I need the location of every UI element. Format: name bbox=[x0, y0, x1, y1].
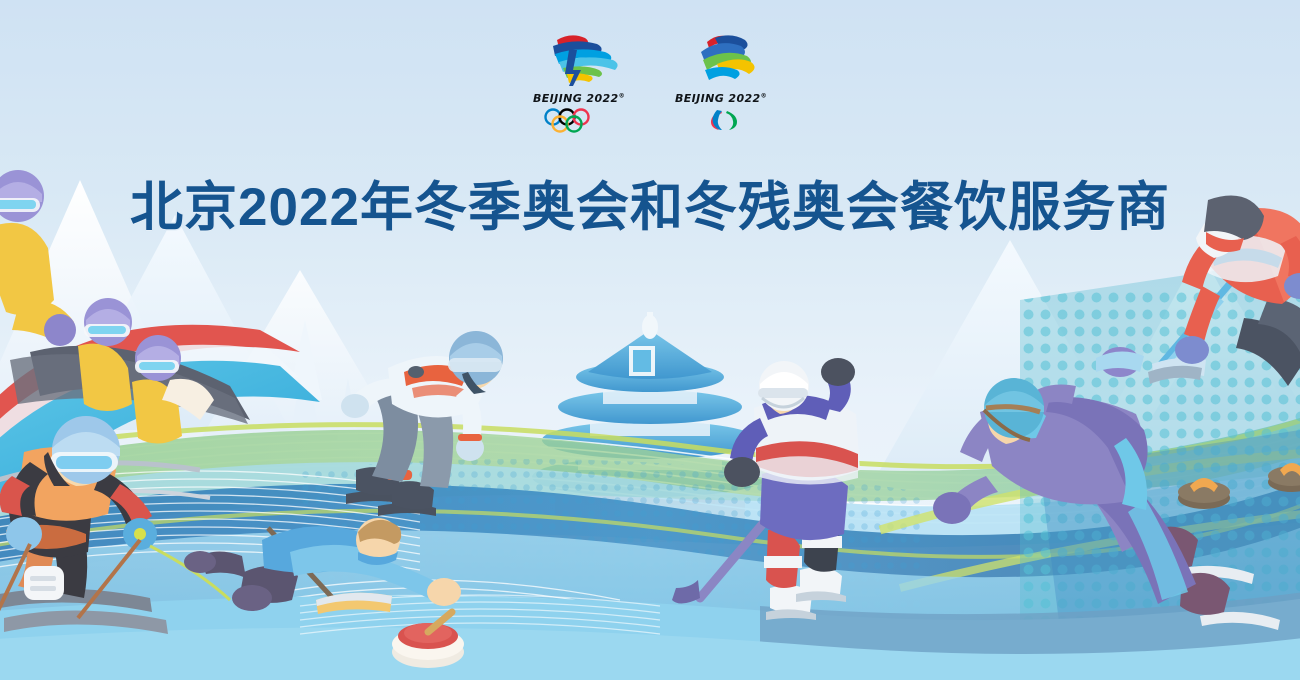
paralympic-wordmark: BEIJING 2022® bbox=[675, 92, 767, 105]
speed-skater bbox=[933, 378, 1280, 630]
olympic-emblem-mark bbox=[529, 30, 629, 90]
title-block: 北京2022年冬季奥会和冬残奥会餐饮服务商 bbox=[0, 143, 1300, 272]
ice-hockey-player bbox=[672, 358, 860, 620]
paralympic-emblem-mark bbox=[671, 30, 771, 90]
beijing-2022-paralympic-emblem: BEIJING 2022® bbox=[671, 30, 771, 134]
curling-stone-right-2 bbox=[1268, 463, 1300, 492]
beijing-2022-olympic-emblem: BEIJING 2022® bbox=[529, 30, 629, 134]
curler-delivering-stone bbox=[184, 518, 464, 668]
short-track-speed-skater bbox=[341, 331, 503, 516]
olympic-wordmark: BEIJING 2022® bbox=[533, 92, 625, 105]
agitos-icon bbox=[678, 108, 764, 134]
emblem-row: BEIJING 2022® BEIJI bbox=[0, 30, 1300, 134]
alpine-skier bbox=[0, 416, 230, 640]
page-title: 北京2022年冬季奥会和冬残奥会餐饮服务商 bbox=[130, 179, 1170, 237]
beijing-2022-catering-banner: BEIJING 2022® BEIJI bbox=[0, 0, 1300, 680]
curling-stone-right-1 bbox=[1178, 478, 1230, 509]
olympic-rings-icon bbox=[536, 108, 622, 134]
